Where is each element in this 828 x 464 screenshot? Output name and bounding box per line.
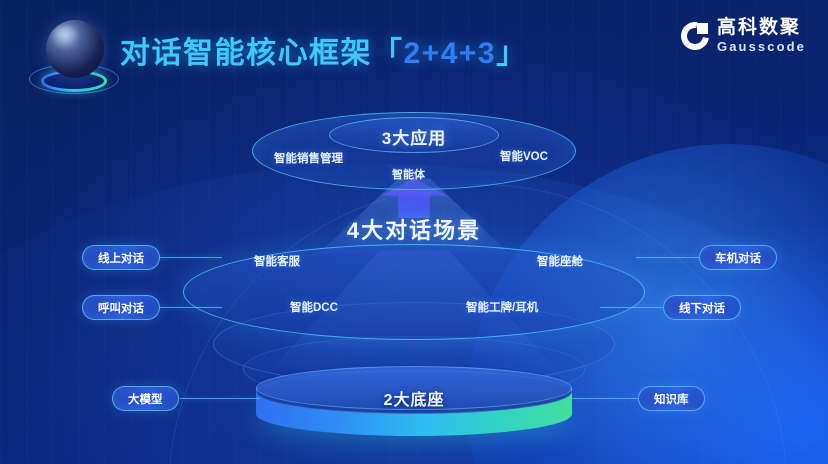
connector-offline-dialogue [600,307,663,308]
connector-llm [180,398,260,399]
node-dcc: 智能DCC [290,299,338,315]
node-voc: 智能VOC [500,148,548,164]
connector-online-dialogue [160,257,222,258]
connector-car-dialogue [636,257,699,258]
framework-diagram: 3大应用 4大对话场景 2大底座 智能销售管理 智能VOC 智能体 智能客服 智… [0,0,828,464]
connector-call-dialogue [160,307,222,308]
node-customer-service: 智能客服 [254,253,300,269]
slide-canvas: 对话智能核心框架「2+4+3」 高科数聚 Gausscode [0,0,828,464]
tier-title-scenarios: 4大对话场景 [0,213,828,245]
label-car-dialogue[interactable]: 车机对话 [699,245,777,270]
node-cockpit: 智能座舱 [537,253,583,269]
node-agent: 智能体 [392,166,425,182]
node-sales-management: 智能销售管理 [274,150,343,166]
label-offline-dialogue[interactable]: 线下对话 [663,295,741,320]
tier-title-applications: 3大应用 [0,124,828,149]
label-call-dialogue[interactable]: 呼叫对话 [82,295,160,320]
node-badge-headset: 智能工牌/耳机 [466,299,538,315]
label-large-model[interactable]: 大模型 [112,386,179,411]
label-online-dialogue[interactable]: 线上对话 [82,245,160,270]
label-knowledge-base[interactable]: 知识库 [638,386,705,411]
connector-knowledge-base [572,398,638,399]
